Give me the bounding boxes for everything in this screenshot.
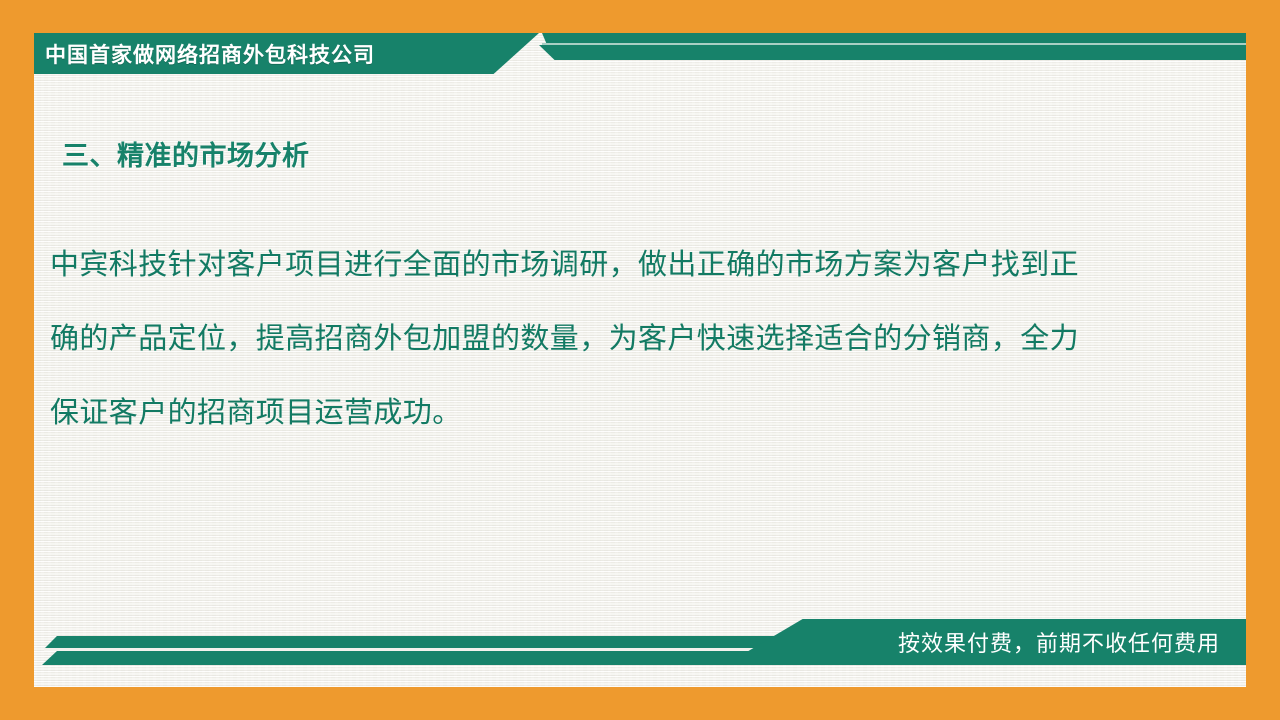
page-title: 三、精准的市场分析 bbox=[62, 134, 310, 173]
slide-root: 中国首家做网络招商外包科技公司 三、精准的市场分析 中宾科技针对客户项目进行全面… bbox=[0, 0, 1280, 720]
body-line: 保证客户的招商项目运营成功。 bbox=[50, 376, 1185, 450]
body-line: 中宾科技针对客户项目进行全面的市场调研，做出正确的市场方案为客户找到正 bbox=[50, 228, 1185, 302]
body-line: 确的产品定位，提高招商外包加盟的数量，为客户快速选择适合的分销商，全力 bbox=[50, 302, 1185, 376]
body-paragraph: 中宾科技针对客户项目进行全面的市场调研，做出正确的市场方案为客户找到正 确的产品… bbox=[50, 228, 1185, 450]
